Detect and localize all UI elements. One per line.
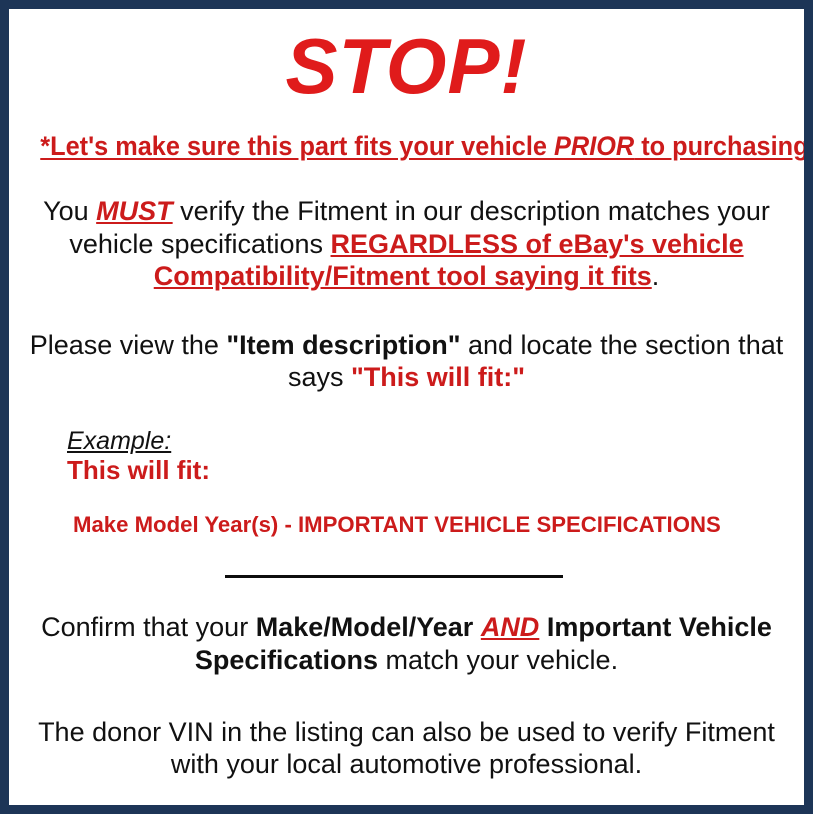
subtitle-part-2: to purchasing* (634, 131, 813, 161)
confirm-text-1: Confirm that your (41, 612, 256, 642)
please-text-1: Please view the (30, 330, 227, 360)
item-description-paragraph: Please view the "Item description" and l… (23, 329, 790, 394)
donor-vin-paragraph: The donor VIN in the listing can also be… (23, 716, 790, 781)
divider-wrap (23, 565, 790, 583)
verify-subtitle: *Let's make sure this part fits your veh… (40, 131, 772, 161)
thank-you-line: Thank you for confirming Fitment! (23, 807, 790, 814)
example-label: Example: (67, 427, 171, 455)
confirm-space-2 (539, 612, 547, 642)
subtitle-prior-emphasis: PRIOR (554, 131, 634, 161)
stop-headline: STOP! (23, 27, 790, 105)
make-model-year-bold: Make/Model/Year (256, 612, 474, 642)
example-spec-line: Make Model Year(s) - IMPORTANT VEHICLE S… (73, 512, 779, 538)
item-description-quote: "Item description" (226, 330, 460, 360)
must-emphasis: MUST (96, 196, 173, 226)
section-divider (225, 575, 563, 578)
confirm-space-1 (473, 612, 481, 642)
this-will-fit-quote: "This will fit:" (351, 362, 525, 392)
confirm-paragraph: Confirm that your Make/Model/Year AND Im… (23, 611, 790, 676)
confirm-text-2: match your vehicle. (378, 645, 618, 675)
example-fit-heading: This will fit: (67, 456, 790, 486)
subtitle-part-1: *Let's make sure this part fits your veh… (40, 131, 554, 161)
banner-inner: STOP! *Let's make sure this part fits yo… (9, 27, 804, 814)
must-verify-paragraph: You MUST verify the Fitment in our descr… (23, 195, 790, 292)
and-emphasis: AND (481, 612, 540, 642)
example-block: Example: This will fit: Make Model Year(… (23, 427, 790, 538)
must-text-3: . (652, 261, 660, 291)
fitment-warning-banner: STOP! *Let's make sure this part fits yo… (0, 0, 813, 814)
must-text-1: You (43, 196, 96, 226)
